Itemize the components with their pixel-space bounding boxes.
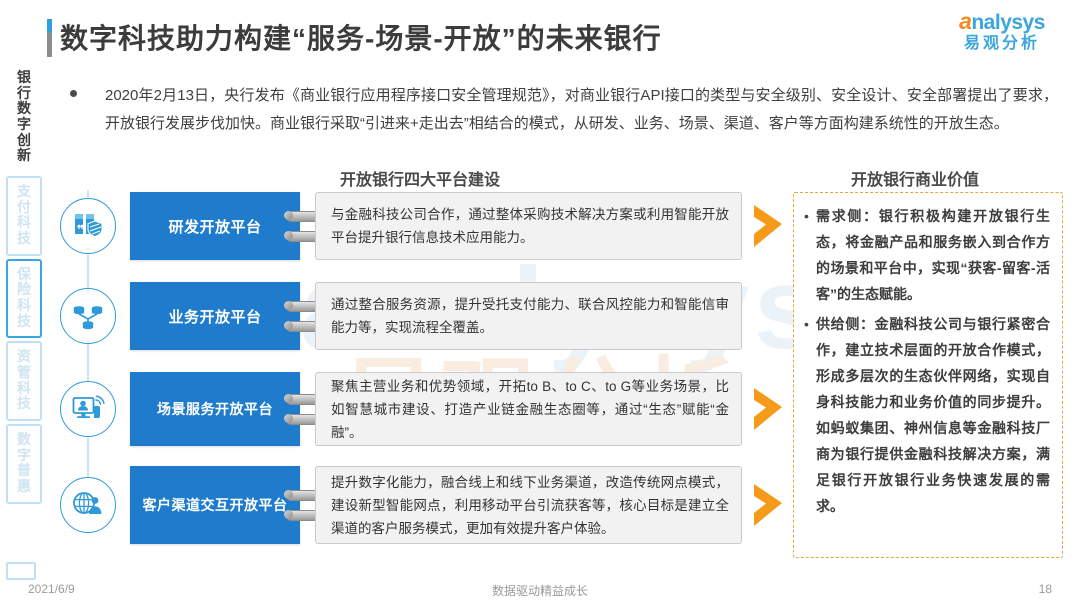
bullet-dot-icon xyxy=(70,90,77,97)
sidebar-item-3[interactable]: 资管科技 xyxy=(6,341,42,421)
sidebar-nav[interactable]: 银行数字创新支付科技保险科技资管科技数字普惠 xyxy=(6,62,46,507)
sidebar-item-4-char: 普 xyxy=(8,463,40,479)
page-header: 数字科技助力构建“服务-场景-开放”的未来银行 analysys 易观分析 xyxy=(0,0,1080,72)
sidebar-item-3-char: 管 xyxy=(8,365,40,381)
sidebar-item-0-char: 字 xyxy=(8,117,40,133)
value-bullet-icon: • xyxy=(804,203,816,307)
platform-row: 场景服务开放平台聚焦主营业务和优势领域，开拓to B、to C、to G等业务场… xyxy=(0,372,800,446)
value-point: •供给侧：金融科技公司与银行紧密合作，建立技术层面的开放合作模式，形成多层次的生… xyxy=(804,311,1050,519)
sidebar-item-0-char: 银 xyxy=(8,70,40,86)
sidebar-item-1-char: 科 xyxy=(8,215,40,231)
sidebar-item-2[interactable]: 保险科技 xyxy=(6,259,42,339)
sidebar-item-4-char: 惠 xyxy=(8,479,40,495)
globe-user-icon xyxy=(60,477,116,533)
sidebar-item-2-char: 保 xyxy=(8,267,40,283)
platform-row: 业务开放平台通过整合服务资源，提升受托支付能力、联合风控能力和智能信审能力等，实… xyxy=(0,282,800,350)
sidebar-item-4-char: 数 xyxy=(8,432,40,448)
platform-description-box: 通过整合服务资源，提升受托支付能力、联合风控能力和智能信审能力等，实现流程全覆盖… xyxy=(315,282,742,350)
value-point: •需求侧：银行积极构建开放银行生态，将金融产品和服务嵌入到合作方的场景和平台中，… xyxy=(804,203,1050,307)
platform-diagram: 研发开放平台与金融科技公司合作，通过整体采购技术解决方案或利用智能开放平台提升银… xyxy=(0,190,800,560)
intro-paragraph: 2020年2月13日，央行发布《商业银行应用程序接口安全管理规范》，对商业银行A… xyxy=(105,82,1058,138)
chevron-right-icon xyxy=(752,482,786,528)
title-accent-bar xyxy=(47,19,52,57)
sidebar-item-2-char: 科 xyxy=(8,298,40,314)
platform-name-box[interactable]: 场景服务开放平台 xyxy=(130,372,300,446)
sidebar-item-1-char: 付 xyxy=(8,200,40,216)
intro-bullet-row: 2020年2月13日，央行发布《商业银行应用程序接口安全管理规范》，对商业银行A… xyxy=(70,82,1058,138)
sidebar-item-0-char: 行 xyxy=(8,86,40,102)
sidebar-item-4[interactable]: 数字普惠 xyxy=(6,424,42,504)
page-footer: 2021/6/9 数据驱动精益成长 18 xyxy=(0,574,1080,608)
sidebar-item-0-char: 创 xyxy=(8,133,40,149)
platform-description-text: 聚焦主营业务和优势领域，开拓to B、to C、to G等业务场景，比如智慧城市… xyxy=(331,375,729,444)
sidebar-item-0-char: 数 xyxy=(8,101,40,117)
platform-description-text: 提升数字化能力，融合线上和线下业务渠道，改造传统网点模式，建设新型智能网点，利用… xyxy=(331,471,729,540)
section-heading-platforms: 开放银行四大平台建设 xyxy=(340,166,500,190)
sidebar-item-2-char: 险 xyxy=(8,282,40,298)
value-point-text: 需求侧：银行积极构建开放银行生态，将金融产品和服务嵌入到合作方的场景和平台中，实… xyxy=(816,203,1050,307)
analysys-logo: analysys 易观分析 xyxy=(942,10,1062,52)
logo-wordmark-rest: nalysys xyxy=(971,11,1045,34)
sidebar-item-1-char: 技 xyxy=(8,231,40,247)
platform-description-box: 提升数字化能力，融合线上和线下业务渠道，改造传统网点模式，建设新型智能网点，利用… xyxy=(315,466,742,544)
platform-row: 研发开放平台与金融科技公司合作，通过整体采购技术解决方案或利用智能开放平台提升银… xyxy=(0,192,800,260)
monitor-user-signal-icon xyxy=(60,381,116,437)
platform-description-text: 通过整合服务资源，提升受托支付能力、联合风控能力和智能信审能力等，实现流程全覆盖… xyxy=(331,293,729,339)
sidebar-item-3-char: 技 xyxy=(8,396,40,412)
page-title: 数字科技助力构建“服务-场景-开放”的未来银行 xyxy=(60,17,662,57)
sidebar-item-1-char: 支 xyxy=(8,184,40,200)
footer-slogan: 数据驱动精益成长 xyxy=(0,582,1080,599)
sidebar-item-3-char: 资 xyxy=(8,349,40,365)
sidebar-item-3-char: 科 xyxy=(8,381,40,397)
platform-name-box[interactable]: 客户渠道交互开放平台 xyxy=(130,466,300,544)
database-network-icon xyxy=(60,288,116,344)
sidebar-item-2-char: 技 xyxy=(8,314,40,330)
footer-page-number: 18 xyxy=(1039,582,1052,596)
logo-chinese: 易观分析 xyxy=(942,36,1062,52)
sidebar-item-1[interactable]: 支付科技 xyxy=(6,176,42,256)
logo-wordmark: analysys xyxy=(942,10,1062,33)
sidebar-item-4-char: 字 xyxy=(8,448,40,464)
platform-row: 客户渠道交互开放平台提升数字化能力，融合线上和线下业务渠道，改造传统网点模式，建… xyxy=(0,466,800,544)
platform-name-box[interactable]: 研发开放平台 xyxy=(130,192,300,260)
section-heading-value: 开放银行商业价值 xyxy=(851,166,979,190)
business-value-panel: •需求侧：银行积极构建开放银行生态，将金融产品和服务嵌入到合作方的场景和平台中，… xyxy=(793,192,1063,558)
logo-letter-a: a xyxy=(959,8,971,34)
platform-description-box: 与金融科技公司合作，通过整体采购技术解决方案或利用智能开放平台提升银行信息技术应… xyxy=(315,192,742,260)
platform-description-box: 聚焦主营业务和优势领域，开拓to B、to C、to G等业务场景，比如智慧城市… xyxy=(315,372,742,446)
platform-description-text: 与金融科技公司合作，通过整体采购技术解决方案或利用智能开放平台提升银行信息技术应… xyxy=(331,203,729,249)
package-shield-icon xyxy=(60,198,116,254)
platform-name-box[interactable]: 业务开放平台 xyxy=(130,282,300,350)
chevron-right-icon xyxy=(752,386,786,432)
sidebar-item-0-char: 新 xyxy=(8,148,40,164)
footer-decoration xyxy=(6,562,36,580)
chevron-right-icon xyxy=(752,203,786,249)
sidebar-item-0[interactable]: 银行数字创新 xyxy=(6,62,42,173)
value-point-text: 供给侧：金融科技公司与银行紧密合作，建立技术层面的开放合作模式，形成多层次的生态… xyxy=(816,311,1050,519)
value-bullet-icon: • xyxy=(804,311,816,519)
